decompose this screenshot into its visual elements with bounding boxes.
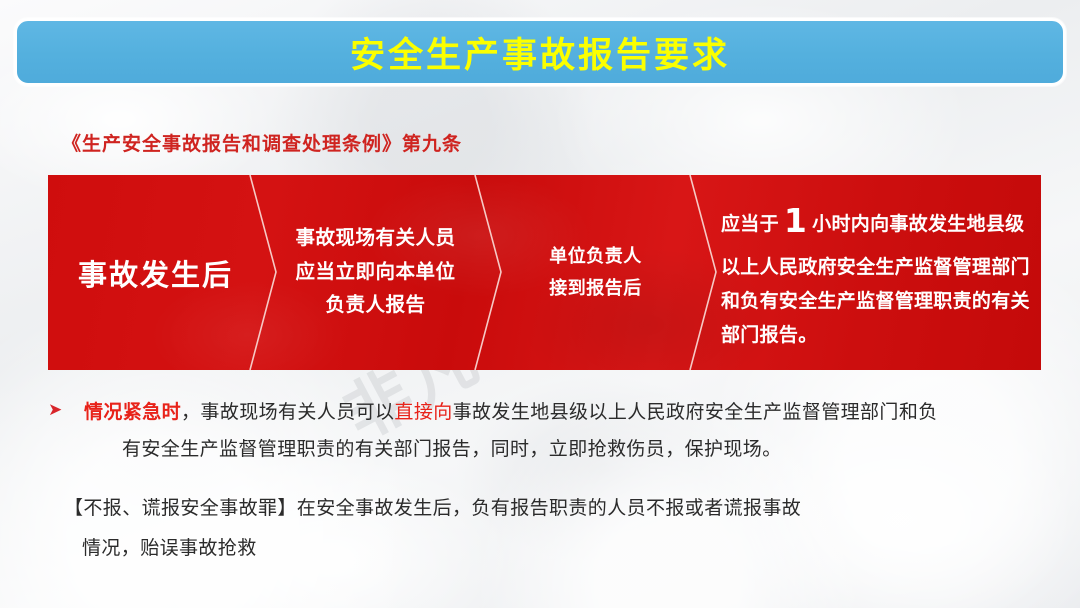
slide-canvas: 非凡公考 安全生产事故报告要求 《生产安全事故报告和调查处理条例》第九条 事故发… xyxy=(0,0,1080,608)
flow-step-accident-occurred: 事故发生后 xyxy=(48,175,263,370)
flow-step-3-line-2: 接到报告后 xyxy=(549,273,642,305)
slide-title-bar: 安全生产事故报告要求 xyxy=(14,18,1066,86)
crime-line-2: 情况，贻误事故抢救 xyxy=(64,529,1054,569)
flow-step-4-text: 应当于1小时内向事故发生地县级以上人民政府安全生产监督管理部门和负有安全生产监督… xyxy=(721,192,1033,352)
crime-definition-block: 【不报、谎报安全事故罪】在安全事故发生后，负有报告职责的人员不报或者谎报事故 情… xyxy=(64,489,1054,569)
bullet-text-after-lead: ，事故现场有关人员可以 xyxy=(181,402,394,423)
emergency-bullet-block: ➤ 情况紧急时，事故现场有关人员可以直接向事故发生地县级以上人民政府安全生产监督… xyxy=(48,394,1048,468)
page-title: 安全生产事故报告要求 xyxy=(350,27,730,78)
bullet-paragraph-line-2: 有安全生产监督管理职责的有关部门报告，同时，立即抢救伤员，保护现场。 xyxy=(48,431,1048,468)
flow-step-2-line-2: 应当立即向本单位 xyxy=(295,256,455,290)
reporting-flow-banner: 事故发生后 事故现场有关人员 应当立即向本单位 负责人报告 单位负责人 接到报告… xyxy=(48,175,1041,370)
arrow-bullet-icon: ➤ xyxy=(48,394,84,423)
bullet-paragraph-line-1: 情况紧急时，事故现场有关人员可以直接向事故发生地县级以上人民政府安全生产监督管理… xyxy=(84,394,938,431)
regulation-citation: 《生产安全事故报告和调查处理条例》第九条 xyxy=(62,129,462,156)
bullet-row: ➤ 情况紧急时，事故现场有关人员可以直接向事故发生地县级以上人民政府安全生产监督… xyxy=(48,394,1048,431)
bullet-emphasis-lead: 情况紧急时 xyxy=(84,402,181,423)
flow-step-unit-leader-received: 单位负责人 接到报告后 xyxy=(488,175,703,370)
flow-step-1-line-1: 事故发生后 xyxy=(78,252,233,294)
flow-step-4-hour-number: 1 xyxy=(779,201,812,240)
flow-step-3-line-1: 单位负责人 xyxy=(549,241,642,273)
bullet-text-after-mid: 事故发生地县级以上人民政府安全生产监督管理部门和负 xyxy=(453,402,938,423)
flow-step-3-text: 单位负责人 接到报告后 xyxy=(549,241,642,304)
flow-step-2-line-1: 事故现场有关人员 xyxy=(295,222,455,256)
flow-step-report-within-one-hour: 应当于1小时内向事故发生地县级以上人民政府安全生产监督管理部门和负有安全生产监督… xyxy=(703,175,1041,370)
flow-step-scene-personnel-report: 事故现场有关人员 应当立即向本单位 负责人报告 xyxy=(263,175,488,370)
bullet-emphasis-mid: 直接向 xyxy=(394,402,452,423)
flow-step-1-text: 事故发生后 xyxy=(78,252,233,294)
flow-step-2-text: 事故现场有关人员 应当立即向本单位 负责人报告 xyxy=(295,222,455,323)
crime-line-1: 【不报、谎报安全事故罪】在安全事故发生后，负有报告职责的人员不报或者谎报事故 xyxy=(64,489,1054,529)
flow-step-2-line-3: 负责人报告 xyxy=(295,289,455,323)
flow-step-4-prefix: 应当于 xyxy=(721,214,779,235)
